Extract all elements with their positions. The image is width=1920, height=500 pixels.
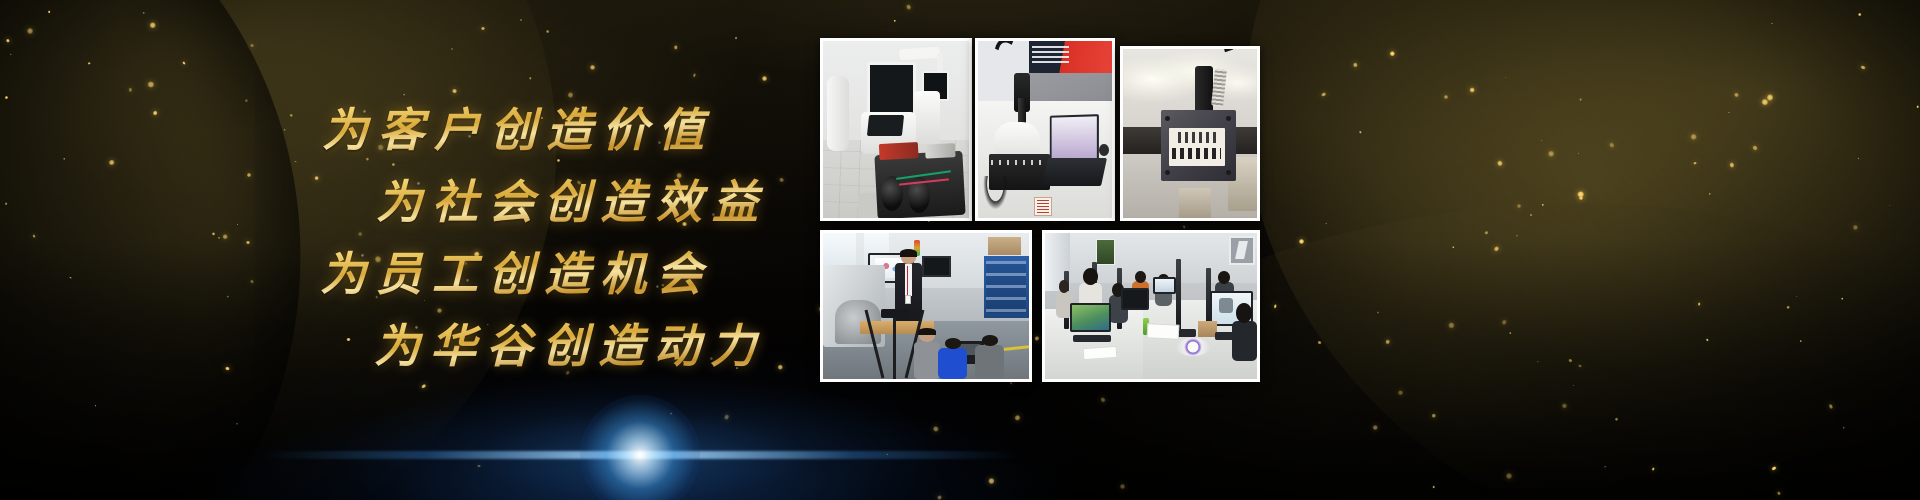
photo-4-scene — [823, 233, 1029, 379]
gold-particle — [1541, 140, 1542, 141]
gold-particle — [1917, 105, 1919, 108]
gold-particle — [1843, 426, 1845, 428]
gold-particle — [222, 233, 229, 240]
gold-particle — [1432, 486, 1434, 489]
gold-particle — [153, 110, 158, 116]
photo-thumbnail-4[interactable] — [820, 230, 1032, 382]
gold-particle — [1398, 390, 1403, 395]
gold-particle — [1799, 340, 1801, 342]
gold-particle — [519, 19, 521, 21]
gold-particle — [894, 20, 896, 22]
gold-particle — [674, 45, 677, 50]
gold-particle — [1579, 98, 1582, 102]
gold-particle — [1777, 491, 1782, 496]
gold-particle — [1706, 339, 1709, 342]
gold-particle — [1729, 161, 1734, 168]
gold-particle — [1561, 402, 1568, 409]
gold-particle — [1857, 157, 1858, 159]
gold-particle — [1353, 63, 1358, 69]
gold-particle — [1852, 224, 1859, 231]
gold-particle — [1505, 76, 1507, 78]
gold-particle — [1858, 13, 1862, 17]
gold-particle — [245, 99, 248, 102]
gold-particle — [10, 54, 12, 56]
gold-particle — [1273, 304, 1276, 309]
calligraphy-line-1: 为客户创造价值 — [322, 94, 714, 160]
gold-particle — [108, 159, 115, 166]
gold-particle — [32, 234, 36, 238]
gold-particle — [1615, 417, 1618, 420]
gold-particle — [1578, 364, 1583, 368]
photo-thumbnail-2[interactable] — [975, 38, 1115, 221]
gold-particle — [148, 81, 155, 87]
gold-particle — [87, 62, 90, 65]
gold-particle — [735, 36, 737, 39]
gold-particle — [1372, 424, 1378, 430]
photo-grid — [820, 38, 1270, 383]
photo-5-scene — [1045, 233, 1257, 379]
gold-particle — [1568, 358, 1573, 363]
gold-particle — [237, 224, 239, 225]
photo-1-scene — [823, 41, 969, 218]
gold-particle — [1494, 246, 1500, 253]
gold-particle — [1516, 204, 1520, 208]
photo-thumbnail-3[interactable] — [1120, 46, 1260, 221]
gold-particle — [1484, 231, 1489, 235]
gold-particle — [69, 276, 72, 278]
gold-particle — [63, 157, 65, 160]
gold-particle — [1537, 360, 1539, 362]
gold-particle — [1448, 322, 1455, 329]
photo-2-scene — [978, 41, 1112, 218]
gold-particle — [149, 21, 156, 28]
gold-particle — [1698, 302, 1701, 306]
gold-particle — [1578, 153, 1579, 154]
gold-particle — [1709, 193, 1711, 195]
gold-particle — [451, 48, 454, 50]
gold-particle — [250, 44, 254, 48]
calligraphy-line-3: 为员工创造机会 — [320, 238, 712, 304]
gold-particle — [5, 96, 8, 99]
gold-particle — [1771, 22, 1773, 24]
gold-particle — [1359, 130, 1362, 133]
gold-particle — [1390, 51, 1395, 56]
gold-particle — [693, 73, 696, 78]
gold-particle — [1444, 95, 1449, 99]
gold-particle — [294, 161, 297, 163]
gold-particle — [227, 296, 229, 298]
device-nameplate — [1169, 128, 1225, 165]
gold-particle — [1431, 413, 1435, 418]
gold-particle — [589, 64, 596, 71]
gold-particle — [1573, 384, 1574, 386]
gold-particle — [1298, 238, 1304, 244]
gold-particle — [1728, 112, 1730, 114]
gold-particle — [27, 27, 35, 35]
gold-particle — [1497, 160, 1504, 168]
gold-particle — [1604, 466, 1607, 468]
gold-particle — [1377, 311, 1379, 314]
gold-particle — [1771, 466, 1778, 472]
gold-particle — [1829, 403, 1834, 410]
gold-particle — [5, 38, 9, 43]
gold-particle — [1385, 339, 1391, 345]
gold-particle — [1787, 306, 1790, 309]
corporate-values-banner: 为客户创造价值 为社会创造效益 为员工创造机会 为华谷创造动力 — [0, 0, 1920, 500]
gold-particle — [1469, 86, 1476, 93]
gold-particle — [1609, 142, 1615, 149]
gold-particle — [1541, 203, 1544, 206]
gold-particle — [1751, 144, 1758, 151]
gold-particle — [290, 114, 293, 117]
gold-particle — [49, 10, 51, 13]
gold-particle — [250, 279, 255, 284]
gold-particle — [1690, 133, 1697, 141]
gold-particle — [545, 30, 550, 35]
photo-thumbnail-5[interactable] — [1042, 230, 1260, 382]
gold-particle — [142, 12, 144, 14]
gold-particle — [182, 60, 186, 64]
gold-particle — [284, 128, 286, 130]
gold-particle — [481, 27, 485, 30]
gold-particle — [1508, 332, 1511, 335]
calligraphy-line-2: 为社会创造效益 — [376, 166, 768, 232]
gold-particle — [1578, 191, 1585, 197]
gold-particle — [1795, 295, 1797, 297]
gold-particle — [1733, 92, 1739, 98]
gold-particle — [1530, 214, 1532, 217]
gold-particle — [1505, 472, 1512, 479]
gold-particle — [1860, 65, 1867, 70]
gold-particle — [1317, 340, 1322, 345]
photo-3-scene — [1123, 49, 1257, 218]
gold-particle — [1547, 149, 1555, 157]
gold-particle — [1516, 235, 1518, 237]
gold-particle — [246, 240, 250, 244]
gold-particle — [128, 87, 131, 92]
gold-particle — [1451, 246, 1454, 249]
gold-particle — [218, 236, 220, 239]
photo-thumbnail-1[interactable] — [820, 38, 972, 221]
gold-particle — [1320, 92, 1326, 97]
gold-particle — [906, 3, 912, 10]
gold-particle — [212, 232, 216, 236]
gold-particle — [1500, 318, 1507, 325]
gold-particle — [1841, 298, 1844, 301]
gold-particle — [1325, 223, 1327, 225]
gold-particle — [1651, 467, 1655, 472]
gold-particle — [95, 404, 96, 406]
gold-particle — [1888, 204, 1890, 206]
gold-particle — [247, 172, 252, 176]
gold-particle — [1692, 162, 1696, 165]
gold-particle — [5, 203, 8, 206]
